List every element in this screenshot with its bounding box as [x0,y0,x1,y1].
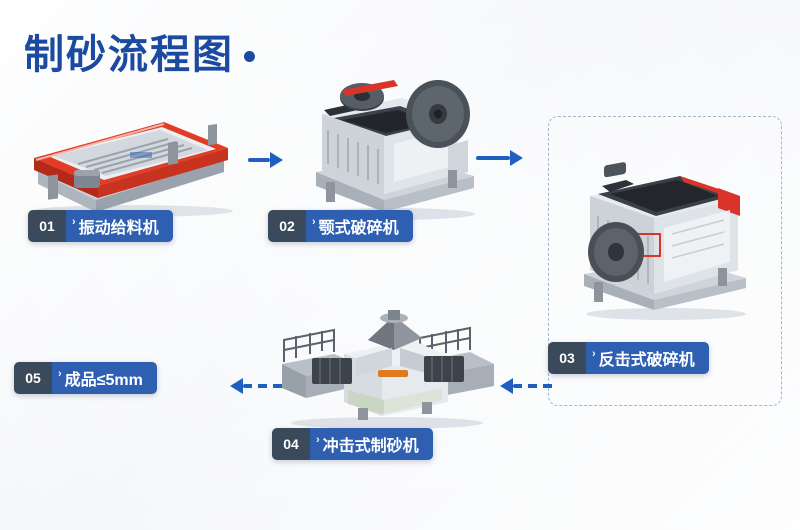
page-title-text: 制砂流程图 [24,33,234,77]
title-dot [244,51,255,62]
step-number-02: 02 [268,210,306,242]
step-title-02: ›颚式破碎机 [306,210,413,242]
caret-icon: › [312,216,316,228]
step-label-01[interactable]: 01 ›振动给料机 [28,210,173,242]
jaw-crusher-image [298,52,488,222]
step-label-03[interactable]: 03 ›反击式破碎机 [548,342,709,374]
vsi-sand-maker-image [272,310,502,430]
step-number-01: 01 [28,210,66,242]
step-label-04[interactable]: 04 ›冲击式制砂机 [272,428,433,460]
page-title: 制砂流程图 [24,22,255,80]
caret-icon: › [592,348,596,360]
vibrating-feeder-image [18,108,244,218]
step-number-03: 03 [548,342,586,374]
arrow-impact-to-vsi [500,378,557,394]
step-label-05[interactable]: 05 ›成品≤5mm [14,362,157,394]
step-title-01: ›振动给料机 [66,210,173,242]
arrow-feeder-to-jaw [248,152,283,168]
step-title-05: ›成品≤5mm [52,362,157,394]
caret-icon: › [58,368,62,380]
step-number-05: 05 [14,362,52,394]
caret-icon: › [72,216,76,228]
caret-icon: › [316,434,320,446]
step-title-04: ›冲击式制砂机 [310,428,433,460]
arrow-jaw-to-impact [476,150,523,166]
impact-crusher-image [568,142,764,322]
arrow-vsi-to-product [230,378,287,394]
step-title-03: ›反击式破碎机 [586,342,709,374]
step-label-02[interactable]: 02 ›颚式破碎机 [268,210,413,242]
sand-making-flowchart: 制砂流程图 [0,0,800,530]
step-number-04: 04 [272,428,310,460]
